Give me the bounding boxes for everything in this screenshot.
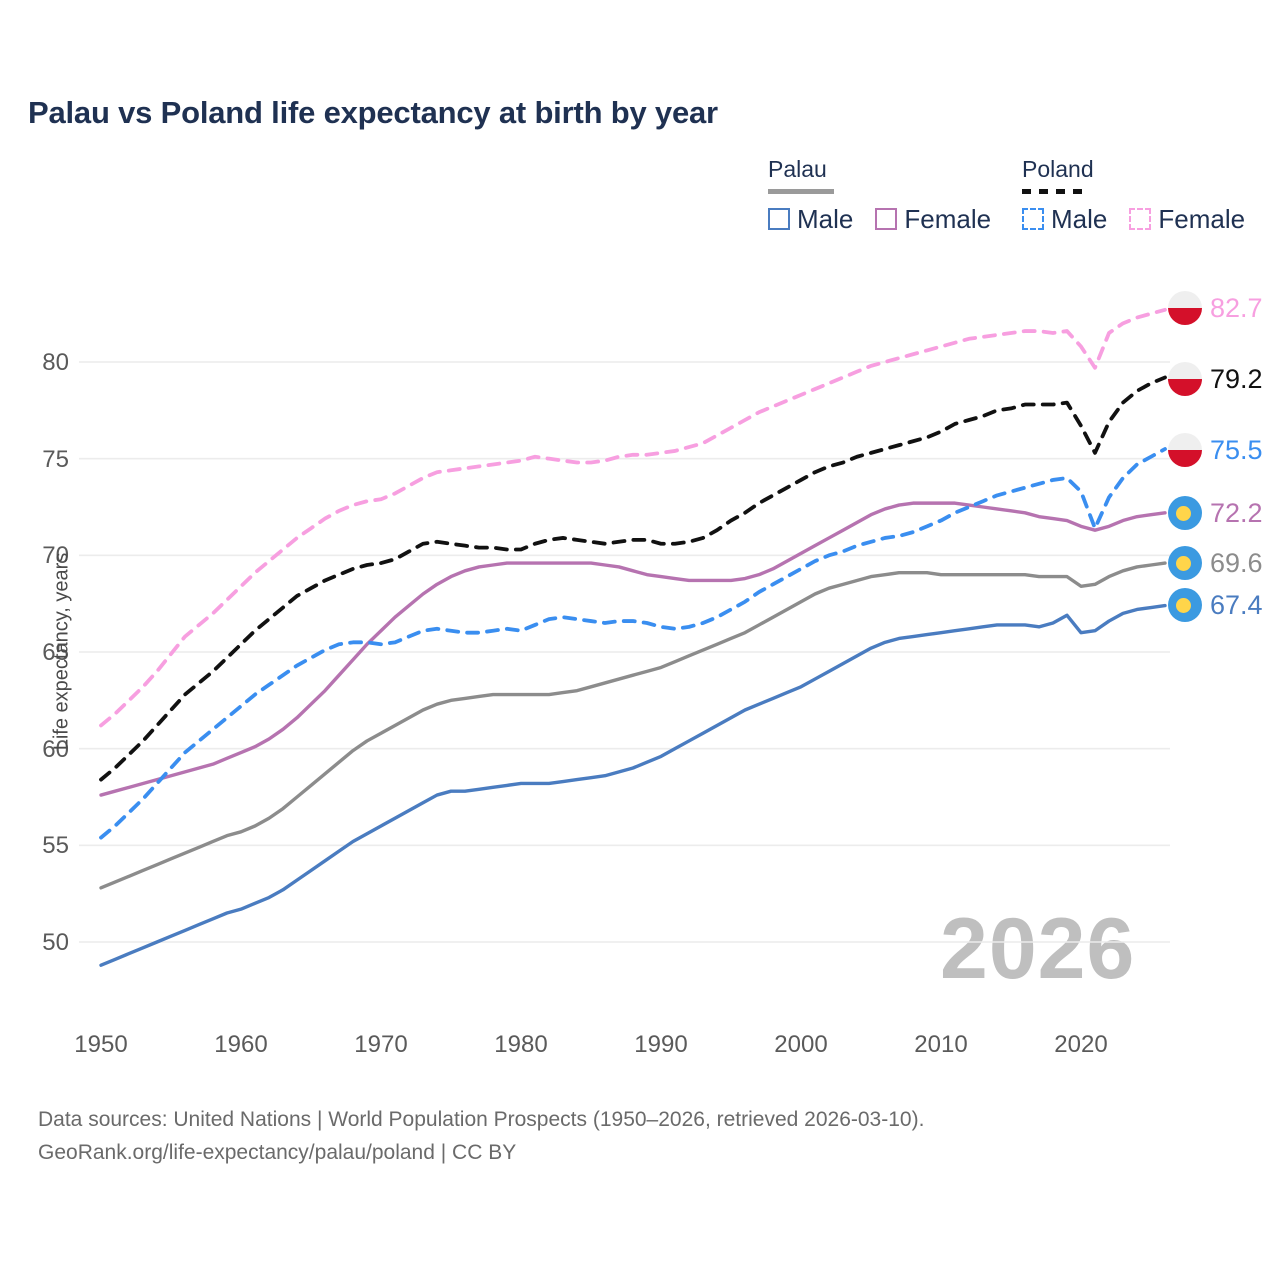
chart-root: Palau vs Poland life expectancy at birth…	[0, 0, 1280, 1280]
flag-icon-poland	[1168, 433, 1202, 467]
end-label-72.2: 72.2	[1168, 496, 1263, 530]
end-label-82.7: 82.7	[1168, 291, 1263, 325]
footer-line-2: GeoRank.org/life-expectancy/palau/poland…	[38, 1137, 924, 1170]
x-tick-label: 1950	[41, 1031, 161, 1059]
end-value: 79.2	[1210, 366, 1263, 393]
end-label-79.2: 79.2	[1168, 362, 1263, 396]
y-tick-label: 50	[9, 929, 69, 957]
plot-area: 5055606570758019501960197019801990200020…	[0, 0, 1280, 1280]
end-label-75.5: 75.5	[1168, 433, 1263, 467]
end-value: 67.4	[1210, 592, 1263, 619]
end-value: 75.5	[1210, 437, 1263, 464]
y-axis-title: Life expectancy, years	[51, 532, 74, 772]
x-tick-label: 1990	[601, 1031, 721, 1059]
y-tick-label: 80	[9, 349, 69, 377]
y-tick-label: 75	[9, 446, 69, 474]
plot-svg	[0, 0, 1280, 1280]
x-tick-label: 1960	[181, 1031, 301, 1059]
flag-icon-palau	[1168, 496, 1202, 530]
footer-line-1: Data sources: United Nations | World Pop…	[38, 1104, 924, 1137]
end-value: 82.7	[1210, 295, 1263, 322]
end-value: 72.2	[1210, 500, 1263, 527]
end-value: 69.6	[1210, 550, 1263, 577]
end-label-69.6: 69.6	[1168, 546, 1263, 580]
flag-icon-poland	[1168, 291, 1202, 325]
x-tick-label: 1980	[461, 1031, 581, 1059]
y-tick-label: 55	[9, 832, 69, 860]
flag-icon-palau	[1168, 588, 1202, 622]
x-tick-label: 1970	[321, 1031, 441, 1059]
footer: Data sources: United Nations | World Pop…	[38, 1104, 924, 1169]
x-tick-label: 2010	[881, 1031, 1001, 1059]
x-tick-label: 2020	[1021, 1031, 1141, 1059]
flag-icon-palau	[1168, 546, 1202, 580]
end-label-67.4: 67.4	[1168, 588, 1263, 622]
flag-icon-poland	[1168, 362, 1202, 396]
x-tick-label: 2000	[741, 1031, 861, 1059]
